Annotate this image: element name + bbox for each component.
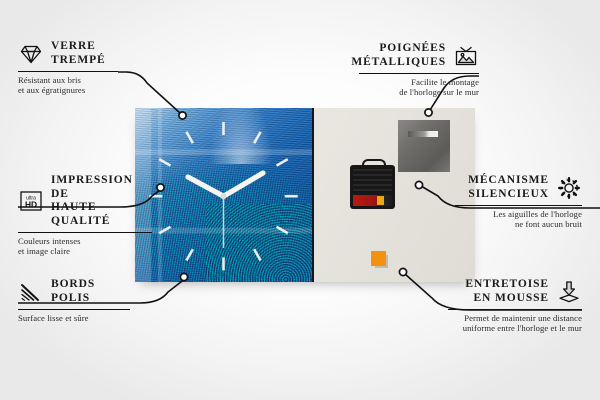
feature-subtitle: Surface lisse et sûre: [18, 313, 130, 323]
feature-header: POIGNÉESMÉTALLIQUES: [359, 42, 479, 69]
battery-terminal: [377, 196, 384, 205]
diamond-icon: [18, 41, 44, 67]
gear-icon: [556, 175, 582, 201]
feature-title: BORDSPOLIS: [51, 278, 95, 305]
wire-verre-trempe: [118, 72, 180, 113]
feature-header: BORDSPOLIS: [18, 278, 130, 305]
feature-subtitle: Couleurs intenseset image claire: [18, 236, 152, 257]
feature-rule: [18, 309, 130, 310]
clock-hands: [135, 108, 312, 282]
product-image: [135, 108, 475, 282]
metal-hanger-plate: [398, 120, 450, 172]
clock-back-panel: [314, 108, 475, 282]
infographic-canvas: VERRETREMPÉ Résistant aux briset aux égr…: [0, 0, 600, 400]
feature-rule: [18, 71, 118, 72]
feature-mecanisme-silencieux[interactable]: MÉCANISMESILENCIEUX Les aiguilles de l'h…: [455, 174, 582, 230]
feature-impression-haute-qualite[interactable]: ultra HD IMPRESSION DEHAUTE QUALITÉ Coul…: [18, 174, 152, 257]
feature-title: ENTRETOISEEN MOUSSE: [465, 278, 549, 305]
feature-header: MÉCANISMESILENCIEUX: [455, 174, 582, 201]
feature-rule: [455, 205, 582, 206]
picture-hanger-icon: [453, 43, 479, 69]
feature-subtitle: Facilite le montagede l'horloge sur le m…: [359, 77, 479, 98]
feature-verre-trempe[interactable]: VERRETREMPÉ Résistant aux briset aux égr…: [18, 40, 118, 96]
feature-subtitle: Permet de maintenir une distanceuniforme…: [448, 313, 582, 334]
clock-mechanism-box: [350, 165, 395, 209]
feature-poignees-metalliques[interactable]: POIGNÉESMÉTALLIQUES Facilite le montaged…: [359, 42, 479, 98]
hour-hand: [188, 177, 224, 196]
feature-rule: [448, 309, 582, 310]
feature-title: MÉCANISMESILENCIEUX: [468, 174, 549, 201]
clock-center-cap: [221, 193, 227, 199]
feature-subtitle: Les aiguilles de l'horlogene font aucun …: [455, 209, 582, 230]
battery: [353, 195, 392, 206]
feature-header: ENTRETOISEEN MOUSSE: [448, 278, 582, 305]
feature-header: VERRETREMPÉ: [18, 40, 118, 67]
mechanism-label: [353, 169, 392, 191]
feature-rule: [359, 73, 479, 74]
clock-face: [135, 108, 314, 282]
feature-entretoise-en-mousse[interactable]: ENTRETOISEEN MOUSSE Permet de maintenir …: [448, 278, 582, 334]
svg-text:HD: HD: [25, 199, 37, 209]
feature-rule: [18, 232, 152, 233]
feature-title: POIGNÉESMÉTALLIQUES: [351, 42, 446, 69]
ultra-hd-icon: ultra HD: [18, 188, 44, 214]
feature-header: ultra HD IMPRESSION DEHAUTE QUALITÉ: [18, 174, 152, 228]
feature-bords-polis[interactable]: BORDSPOLIS Surface lisse et sûre: [18, 278, 130, 323]
foam-spacer-arrow-icon: [556, 279, 582, 305]
polished-edges-icon: [18, 279, 44, 305]
feature-title: IMPRESSION DEHAUTE QUALITÉ: [51, 174, 152, 228]
feature-subtitle: Résistant aux briset aux égratignures: [18, 75, 118, 96]
feature-title: VERRETREMPÉ: [51, 40, 106, 67]
foam-spacer: [371, 251, 386, 266]
minute-hand: [224, 173, 264, 196]
hanger-slot: [408, 131, 438, 137]
